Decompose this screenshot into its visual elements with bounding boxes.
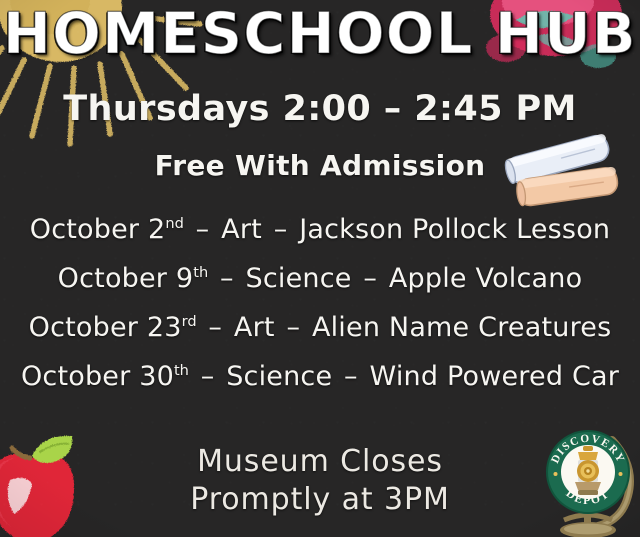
schedule-activity: Apple Volcano bbox=[389, 263, 582, 294]
schedule-date-ordinal: th bbox=[193, 264, 208, 281]
schedule-separator: – bbox=[208, 263, 245, 294]
schedule-subject: Science bbox=[226, 361, 332, 392]
footer-line-2: Promptly at 3PM bbox=[0, 481, 640, 519]
schedule-activity: Alien Name Creatures bbox=[312, 312, 611, 343]
schedule-activity: Wind Powered Car bbox=[370, 361, 620, 392]
schedule-list: October 2nd – Art – Jackson Pollock Less… bbox=[0, 213, 640, 409]
schedule-row: October 30th – Science – Wind Powered Ca… bbox=[0, 360, 640, 409]
footer-notice: Museum Closes Promptly at 3PM bbox=[0, 443, 640, 519]
schedule-date: October 30 bbox=[21, 361, 174, 392]
page-title: HOMESCHOOL HUB bbox=[0, 6, 640, 63]
schedule-date-ordinal: nd bbox=[165, 215, 184, 232]
schedule-subject: Art bbox=[234, 312, 275, 343]
schedule-date-ordinal: rd bbox=[182, 313, 197, 330]
schedule-time-subtitle: Thursdays 2:00 – 2:45 PM bbox=[0, 92, 640, 127]
schedule-separator: – bbox=[197, 312, 234, 343]
schedule-separator: – bbox=[332, 361, 369, 392]
schedule-separator: – bbox=[184, 214, 221, 245]
schedule-date: October 2 bbox=[30, 214, 166, 245]
schedule-separator: – bbox=[352, 263, 389, 294]
schedule-row: October 2nd – Art – Jackson Pollock Less… bbox=[0, 213, 640, 262]
schedule-separator: – bbox=[262, 214, 299, 245]
schedule-row: October 9th – Science – Apple Volcano bbox=[0, 262, 640, 311]
admission-subtitle: Free With Admission bbox=[0, 152, 640, 180]
poster-text-layer: HOMESCHOOL HUB Thursdays 2:00 – 2:45 PM … bbox=[0, 0, 640, 537]
schedule-activity: Jackson Pollock Lesson bbox=[299, 214, 610, 245]
schedule-row: October 23rd – Art – Alien Name Creature… bbox=[0, 311, 640, 360]
schedule-date: October 9 bbox=[58, 263, 194, 294]
schedule-date-ordinal: th bbox=[174, 362, 189, 379]
schedule-separator: – bbox=[189, 361, 226, 392]
footer-line-1: Museum Closes bbox=[0, 443, 640, 481]
schedule-subject: Science bbox=[246, 263, 352, 294]
schedule-separator: – bbox=[275, 312, 312, 343]
schedule-subject: Art bbox=[221, 214, 262, 245]
homeschool-hub-poster: DISCOVERY DEPOT HOMESCHOOL HUB Thursdays… bbox=[0, 0, 640, 537]
schedule-date: October 23 bbox=[29, 312, 182, 343]
